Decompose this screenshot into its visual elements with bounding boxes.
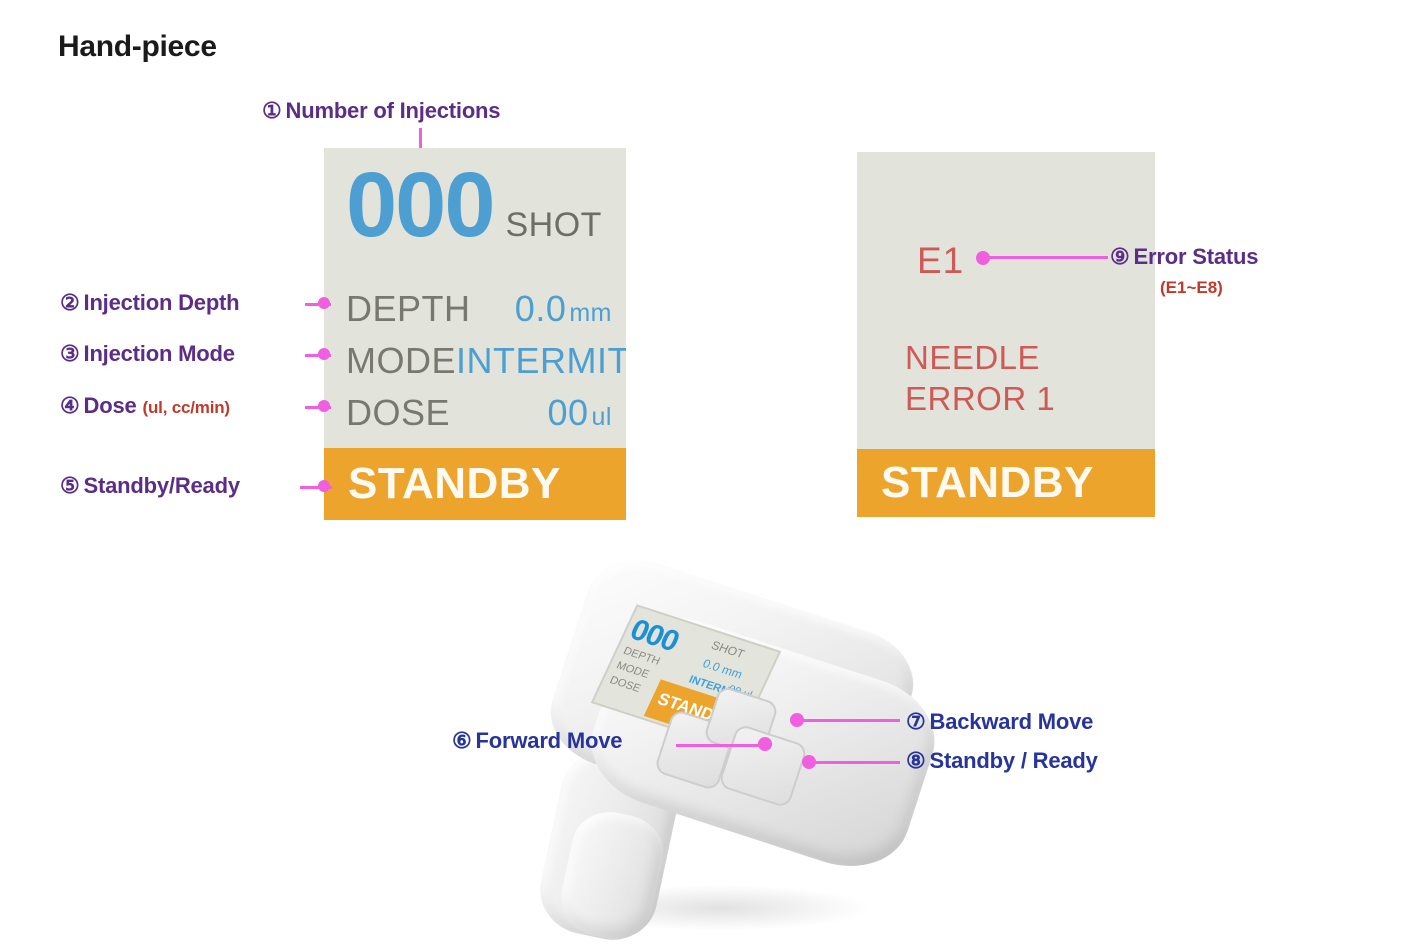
shot-unit-label: SHOT	[506, 206, 602, 245]
leader-dot-2	[318, 297, 330, 309]
mode-value: INTERMIT	[456, 340, 626, 382]
device-shot-unit: SHOT	[709, 638, 747, 661]
callout-4-dose: ④Dose(ul, cc/min)	[60, 393, 230, 419]
callout-8-marker: ⑧	[906, 748, 926, 773]
page-title: Hand-piece	[58, 30, 217, 64]
error-message: NEEDLE ERROR 1	[905, 337, 1055, 420]
lcd-row-dose: DOSE 00ul	[346, 392, 612, 434]
dose-number: 00	[547, 392, 588, 433]
callout-3-label: Injection Mode	[84, 341, 235, 366]
depth-value: 0.0mm	[515, 288, 612, 330]
callout-3-marker: ③	[60, 341, 80, 366]
callout-7-label: Backward Move	[930, 709, 1094, 734]
dose-value: 00ul	[547, 392, 612, 434]
leader-line-6	[676, 744, 768, 747]
status-text-main: STANDBY	[324, 459, 561, 509]
callout-6-marker: ⑥	[452, 728, 472, 753]
leader-line-8	[810, 761, 900, 764]
depth-key: DEPTH	[346, 288, 471, 330]
callout-8-label: Standby / Ready	[930, 748, 1098, 773]
error-message-line2: ERROR 1	[905, 378, 1055, 419]
leader-dot-3	[318, 348, 330, 360]
callout-7-backward-move: ⑦Backward Move	[906, 709, 1093, 735]
callout-4-sublabel: (ul, cc/min)	[143, 398, 230, 417]
callout-3-injection-mode: ③Injection Mode	[60, 341, 235, 367]
leader-dot-5	[318, 480, 330, 492]
callout-9-label: Error Status	[1134, 244, 1259, 269]
callout-2-injection-depth: ②Injection Depth	[60, 290, 239, 316]
status-band-main: STANDBY	[324, 448, 626, 520]
callout-2-marker: ②	[60, 290, 80, 315]
depth-number: 0.0	[515, 288, 567, 329]
callout-5-label: Standby/Ready	[84, 473, 240, 498]
error-code: E1	[917, 240, 964, 282]
callout-4-label: Dose	[84, 393, 137, 418]
depth-unit: mm	[569, 299, 612, 327]
callout-5-standby-ready: ⑤Standby/Ready	[60, 473, 240, 499]
leader-dot-6	[758, 737, 772, 751]
lcd-row-depth: DEPTH 0.0mm	[346, 288, 612, 330]
status-text-error: STANDBY	[857, 458, 1094, 508]
dose-unit: ul	[592, 403, 612, 431]
callout-1-number-of-injections: ①Number of Injections	[262, 98, 500, 124]
lcd-main-panel: 000 SHOT DEPTH 0.0mm MODE INTERMIT DOSE …	[324, 148, 626, 520]
diagram-canvas: Hand-piece ①Number of Injections 000 SHO…	[0, 0, 1418, 938]
callout-9-sublabel: (E1~E8)	[1160, 278, 1223, 298]
dose-key: DOSE	[346, 392, 450, 434]
callout-1-label: Number of Injections	[286, 98, 501, 123]
callout-7-marker: ⑦	[906, 709, 926, 734]
callout-8-standby-ready: ⑧Standby / Ready	[906, 748, 1098, 774]
error-message-line1: NEEDLE	[905, 337, 1055, 378]
status-band-error: STANDBY	[857, 449, 1155, 517]
callout-2-label: Injection Depth	[84, 290, 240, 315]
callout-4-marker: ④	[60, 393, 80, 418]
leader-line-7	[798, 719, 900, 722]
lcd-error-panel: E1 NEEDLE ERROR 1 STANDBY	[857, 152, 1155, 517]
leader-dot-4	[318, 400, 330, 412]
callout-6-forward-move: ⑥Forward Move	[452, 728, 622, 754]
callout-9-marker: ⑨	[1110, 244, 1130, 269]
shot-count-value: 000	[346, 162, 494, 249]
callout-5-marker: ⑤	[60, 473, 80, 498]
leader-line-9	[983, 256, 1108, 259]
shot-row: 000 SHOT	[346, 162, 602, 249]
callout-9-error-status: ⑨Error Status	[1110, 244, 1258, 270]
callout-6-label: Forward Move	[476, 728, 623, 753]
callout-1-marker: ①	[262, 98, 282, 123]
handpiece-device-photo: 000 SHOT DEPTH MODE DOSE 0.0 mm INTERMIT…	[540, 585, 940, 935]
lcd-row-mode: MODE INTERMIT	[346, 340, 612, 382]
mode-key: MODE	[346, 340, 456, 382]
